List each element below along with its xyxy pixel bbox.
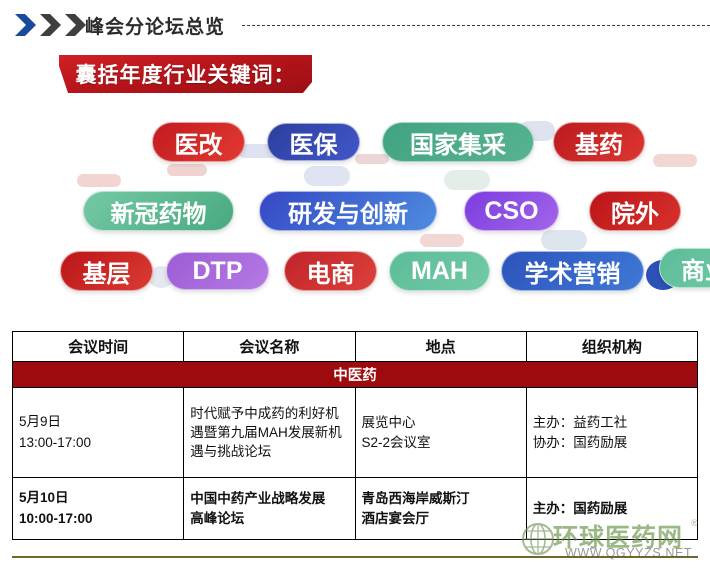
- table-header-row: 会议时间 会议名称 地点 组织机构: [13, 332, 698, 362]
- cell-line: 13:00-17:00: [19, 433, 177, 453]
- schedule-table-wrapper: 会议时间 会议名称 地点 组织机构 中医药 5月9日13:00-17:00时代赋…: [12, 331, 698, 540]
- cell-line: 10:00-17:00: [19, 509, 177, 529]
- keywords-banner-label: 囊括年度行业关键词：: [76, 59, 296, 89]
- decorative-blob: [167, 164, 207, 176]
- keyword-tag[interactable]: 商业: [659, 248, 710, 288]
- decorative-blob: [77, 174, 121, 187]
- cell-meeting-time: 5月9日13:00-17:00: [13, 388, 184, 478]
- chevron-right-icon: [39, 13, 61, 37]
- cell-line: 遇暨第九届MAH发展新机: [190, 423, 348, 442]
- decorative-blob: [355, 154, 389, 164]
- keyword-tag[interactable]: 医改: [152, 122, 245, 162]
- chevron-right-icon: [14, 13, 36, 37]
- header-divider: [242, 25, 710, 26]
- chevron-group: [14, 13, 86, 37]
- keyword-tag[interactable]: 国家集采: [382, 122, 534, 162]
- keyword-tag[interactable]: CSO: [464, 191, 559, 231]
- chevron-right-icon: [64, 13, 86, 37]
- keyword-cloud: 医改医保国家集采基药新冠药物研发与创新CSO院外基层DTP电商MAH学术营销商业: [0, 104, 710, 316]
- schedule-table: 会议时间 会议名称 地点 组织机构 中医药 5月9日13:00-17:00时代赋…: [12, 331, 698, 540]
- cell-line: S2-2会议室: [362, 433, 520, 453]
- cell-line: 时代赋予中成药的利好机: [190, 404, 348, 423]
- slide-root: 峰会分论坛总览 囊括年度行业关键词： 医改医保国家集采基药新冠药物研发与创新CS…: [0, 0, 710, 572]
- cell-organizer: 主办：益药工社协办：国药励展: [526, 388, 697, 478]
- column-header-org: 组织机构: [526, 332, 697, 362]
- keyword-tag[interactable]: 基层: [60, 251, 153, 291]
- keyword-tag[interactable]: 新冠药物: [83, 191, 234, 231]
- cell-line: 酒店宴会厅: [362, 509, 520, 529]
- keyword-tag[interactable]: 研发与创新: [259, 191, 437, 231]
- cell-meeting-name: 时代赋予中成药的利好机遇暨第九届MAH发展新机遇与挑战论坛: [184, 388, 355, 478]
- cell-line: 中国中药产业战略发展: [190, 489, 348, 508]
- table-row: 5月9日13:00-17:00时代赋予中成药的利好机遇暨第九届MAH发展新机遇与…: [13, 388, 698, 478]
- cell-line: 青岛西海岸威斯汀: [362, 489, 520, 509]
- table-section-row: 中医药: [13, 362, 698, 388]
- page-title: 峰会分论坛总览: [85, 12, 225, 39]
- column-header-name: 会议名称: [184, 332, 355, 362]
- cell-line: 主办：益药工社: [533, 413, 691, 433]
- decorative-blob: [653, 154, 697, 167]
- keyword-tag[interactable]: 电商: [284, 251, 377, 291]
- column-header-time: 会议时间: [13, 332, 184, 362]
- table-row: 5月10日10:00-17:00中国中药产业战略发展高峰论坛青岛西海岸威斯汀酒店…: [13, 478, 698, 540]
- keyword-tag[interactable]: 基药: [553, 122, 645, 162]
- keyword-tag[interactable]: 学术营销: [501, 251, 644, 291]
- cell-line: 主办：国药励展: [533, 499, 691, 519]
- table-bottom-rule: [12, 556, 698, 558]
- cell-line: 协办：国药励展: [533, 433, 691, 453]
- cell-meeting-time: 5月10日10:00-17:00: [13, 478, 184, 540]
- cell-location: 青岛西海岸威斯汀酒店宴会厅: [355, 478, 526, 540]
- keyword-tag[interactable]: 医保: [267, 123, 360, 161]
- keyword-tag[interactable]: 院外: [589, 191, 681, 231]
- decorative-blob: [304, 166, 350, 186]
- decorative-blob: [420, 234, 464, 247]
- cell-line: 遇与挑战论坛: [190, 442, 348, 461]
- cell-location: 展览中心S2-2会议室: [355, 388, 526, 478]
- keywords-banner: 囊括年度行业关键词：: [59, 55, 312, 93]
- decorative-blob: [444, 170, 490, 190]
- cell-line: 高峰论坛: [190, 509, 348, 528]
- cell-line: 5月9日: [19, 412, 177, 432]
- cell-organizer: 主办：国药励展: [526, 478, 697, 540]
- cell-line: 展览中心: [362, 413, 520, 433]
- page-header: 峰会分论坛总览: [0, 10, 710, 40]
- section-label: 中医药: [13, 362, 698, 388]
- cell-line: 5月10日: [19, 488, 177, 508]
- keyword-tag[interactable]: DTP: [166, 252, 269, 290]
- column-header-place: 地点: [355, 332, 526, 362]
- cell-meeting-name: 中国中药产业战略发展高峰论坛: [184, 478, 355, 540]
- keyword-tag[interactable]: MAH: [389, 251, 490, 291]
- decorative-blob: [541, 230, 587, 250]
